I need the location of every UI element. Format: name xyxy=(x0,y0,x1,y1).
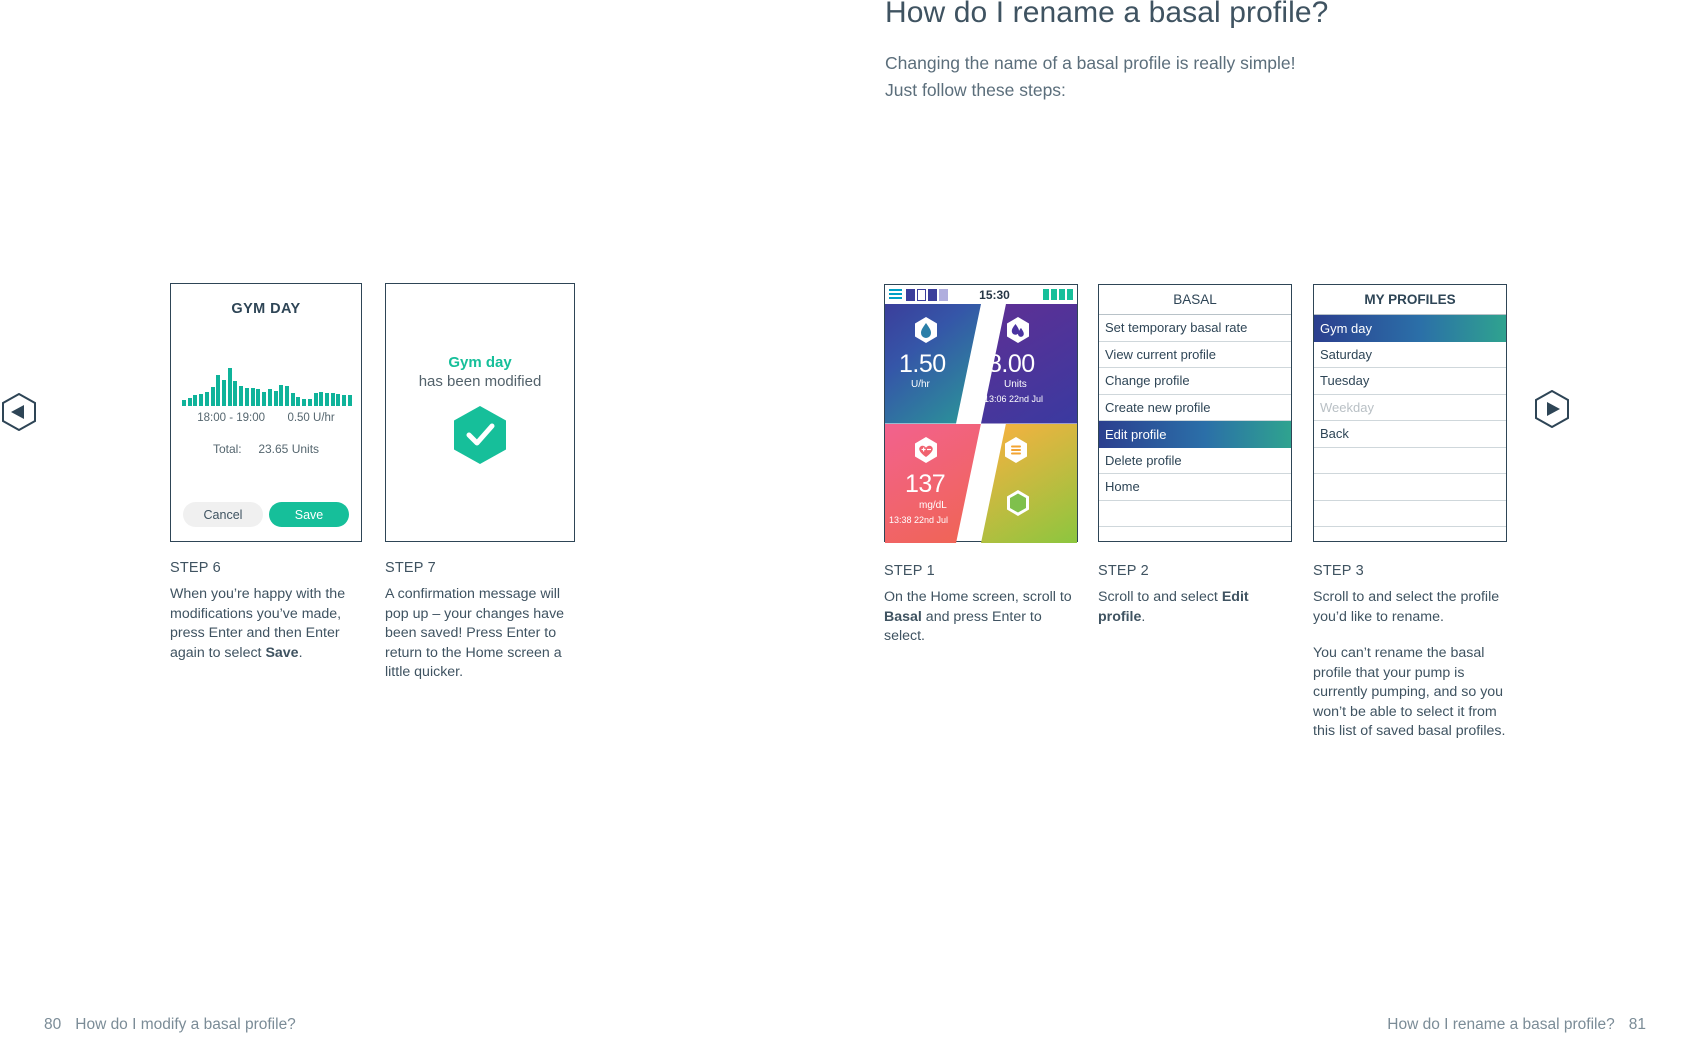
step1-text-a: On the Home screen, scroll to xyxy=(884,589,1072,605)
page-subtitle: Changing the name of a basal profile is … xyxy=(885,50,1296,104)
bg-time: 13:38 22nd Jul xyxy=(889,515,948,525)
cancel-button[interactable]: Cancel xyxy=(183,502,263,527)
chart-time-range: 18:00 - 19:00 xyxy=(197,412,265,424)
footer-title-left: How do I modify a basal profile? xyxy=(75,1016,296,1033)
page-number-left: 80 xyxy=(44,1016,61,1033)
bg-unit: mg/dL xyxy=(919,500,947,511)
profile-title: GYM DAY xyxy=(171,301,361,317)
menu-item-set-temporary-basal-rate[interactable]: Set temporary basal rate xyxy=(1099,315,1291,342)
bolus-value: 8.00 xyxy=(988,350,1035,379)
bg-value: 137 xyxy=(905,470,945,499)
chart-bar xyxy=(296,397,300,407)
chart-bar xyxy=(274,391,278,406)
caption-step1: STEP 1 On the Home screen, scroll to Bas… xyxy=(884,563,1079,647)
caption-step6: STEP 6 When you’re happy with the modifi… xyxy=(170,560,350,663)
profile-item-empty-row xyxy=(1314,474,1506,501)
home-tiles: 1.50 U/hr 8.00 Units 13:06 22nd Jul xyxy=(885,304,1077,543)
device-screen-step7: Gym day has been modified xyxy=(385,283,575,542)
chart-bar xyxy=(348,395,352,406)
chart-bar xyxy=(308,399,312,406)
basal-unit: U/hr xyxy=(911,379,930,390)
profile-item-gym-day[interactable]: Gym day xyxy=(1314,315,1506,342)
step-body: When you’re happy with the modifications… xyxy=(170,585,350,663)
step-label: STEP 6 xyxy=(170,560,350,576)
chart-bar xyxy=(222,380,226,406)
menu-item-view-current-profile[interactable]: View current profile xyxy=(1099,342,1291,369)
step-label: STEP 7 xyxy=(385,560,575,576)
pump-status-bar: 15:30 xyxy=(885,285,1077,304)
chart-bar xyxy=(279,385,283,406)
heart-plus-minus-hexagon-icon xyxy=(913,436,939,464)
step-body: On the Home screen, scroll to Basal and … xyxy=(884,588,1079,647)
step1-text-bold: Basal xyxy=(884,609,922,625)
bolus-time: 13:06 22nd Jul xyxy=(984,394,1043,404)
signal-lines-icon xyxy=(889,289,902,301)
profile-item-tuesday[interactable]: Tuesday xyxy=(1314,368,1506,395)
profile-item-saturday[interactable]: Saturday xyxy=(1314,342,1506,369)
chart-bar xyxy=(342,395,346,406)
basal-bar-chart xyxy=(182,368,352,406)
step-label: STEP 3 xyxy=(1313,563,1509,579)
menu-hexagon-icon xyxy=(1003,436,1029,464)
total-label: Total: xyxy=(213,442,242,456)
chart-bar xyxy=(285,386,289,406)
confirmation-message: has been modified xyxy=(386,373,574,390)
step-label: STEP 2 xyxy=(1098,563,1278,579)
chart-bar xyxy=(336,394,340,406)
bolus-unit: Units xyxy=(1004,379,1027,390)
chart-bar xyxy=(211,387,215,406)
step7-text: A confirmation message will pop up – you… xyxy=(385,585,575,683)
menu-title: BASAL xyxy=(1099,285,1291,315)
droplet-hexagon-icon xyxy=(913,316,939,344)
chart-bar xyxy=(245,388,249,406)
manual-spread: How do I rename a basal profile? Changin… xyxy=(0,0,1690,1058)
footer-title-right: How do I rename a basal profile? xyxy=(1387,1016,1614,1033)
blank-hexagon-icon xyxy=(1005,489,1031,517)
step2-text-c: . xyxy=(1141,609,1145,625)
step-label: STEP 1 xyxy=(884,563,1079,579)
chart-bar xyxy=(188,398,192,406)
step-body: A confirmation message will pop up – you… xyxy=(385,585,575,683)
tile-menu[interactable] xyxy=(981,424,1077,544)
chart-bar xyxy=(268,389,272,406)
chart-bar xyxy=(199,394,203,406)
chart-bar xyxy=(331,393,335,406)
step6-text-bold: Save xyxy=(265,645,298,661)
step6-text-a: When you’re happy with the modifications… xyxy=(170,586,345,661)
device-screen-step3-profiles-menu: MY PROFILES Gym daySaturdayTuesdayWeekda… xyxy=(1313,284,1507,542)
menu-item-change-profile[interactable]: Change profile xyxy=(1099,368,1291,395)
chart-bar xyxy=(216,375,220,406)
basal-value: 1.50 xyxy=(899,350,946,379)
footer-right: How do I rename a basal profile?81 xyxy=(1387,1016,1646,1034)
profile-item-empty-row xyxy=(1314,448,1506,475)
chart-bar xyxy=(325,393,329,406)
double-droplet-hexagon-icon xyxy=(1005,316,1031,344)
step-body: Scroll to and select Edit profile. xyxy=(1098,588,1278,627)
menu-title: MY PROFILES xyxy=(1314,285,1506,315)
chart-bar xyxy=(302,399,306,406)
profile-item-weekday[interactable]: Weekday xyxy=(1314,395,1506,422)
chart-rate: 0.50 U/hr xyxy=(287,412,334,424)
menu-list-basal: Set temporary basal rateView current pro… xyxy=(1099,315,1291,527)
device-screen-step1-home: 15:30 1.50 U/hr xyxy=(884,284,1078,542)
chart-bar xyxy=(233,381,237,406)
menu-item-delete-profile[interactable]: Delete profile xyxy=(1099,448,1291,475)
caption-step7: STEP 7 A confirmation message will pop u… xyxy=(385,560,575,683)
profile-item-empty-row xyxy=(1314,501,1506,528)
status-time: 15:30 xyxy=(979,288,1010,302)
chart-bar xyxy=(256,389,260,406)
device-screen-step2-basal-menu: BASAL Set temporary basal rateView curre… xyxy=(1098,284,1292,542)
chart-bar xyxy=(251,388,255,406)
chart-bar xyxy=(182,400,186,406)
caption-step3: STEP 3 Scroll to and select the profile … xyxy=(1313,563,1509,742)
chart-legend: 18:00 - 19:00 0.50 U/hr xyxy=(171,412,361,424)
chart-bar xyxy=(262,392,266,406)
subtitle-line-2: Just follow these steps: xyxy=(885,77,1296,104)
chart-total: Total: 23.65 Units xyxy=(171,442,361,456)
action-buttons: Cancel Save xyxy=(183,502,349,527)
step6-text-c: . xyxy=(299,645,303,661)
save-button[interactable]: Save xyxy=(269,502,349,527)
chart-bar xyxy=(228,368,232,406)
menu-item-edit-profile[interactable]: Edit profile xyxy=(1099,421,1291,448)
chart-bar xyxy=(314,393,318,406)
chart-bar xyxy=(291,393,295,406)
caption-step2: STEP 2 Scroll to and select Edit profile… xyxy=(1098,563,1278,627)
left-arrow-hexagon-icon[interactable] xyxy=(2,393,36,431)
check-hexagon-icon xyxy=(451,404,509,466)
confirmation-profile-name: Gym day xyxy=(386,354,574,371)
chart-bar xyxy=(193,395,197,406)
chart-bar xyxy=(319,392,323,406)
total-value: 23.65 Units xyxy=(258,442,319,456)
chart-bar xyxy=(239,386,243,406)
step2-text-a: Scroll to and select xyxy=(1098,589,1222,605)
page-title: How do I rename a basal profile? xyxy=(885,0,1328,30)
right-arrow-hexagon-icon[interactable] xyxy=(1535,390,1569,428)
profile-item-back[interactable]: Back xyxy=(1314,421,1506,448)
footer-left: 80How do I modify a basal profile? xyxy=(44,1016,296,1034)
step-body: Scroll to and select the profile you’d l… xyxy=(1313,588,1509,742)
menu-item-home[interactable]: Home xyxy=(1099,474,1291,501)
page-number-right: 81 xyxy=(1629,1016,1646,1033)
step3-text-1: Scroll to and select the profile you’d l… xyxy=(1313,588,1509,627)
battery-indicator-icon xyxy=(1043,289,1073,300)
menu-item-empty-row xyxy=(1099,501,1291,528)
device-screen-step6: GYM DAY 18:00 - 19:00 0.50 U/hr Total: 2… xyxy=(170,283,362,542)
step3-text-2: You can’t rename the basal profile that … xyxy=(1313,644,1509,742)
subtitle-line-1: Changing the name of a basal profile is … xyxy=(885,50,1296,77)
reservoir-indicator-icon xyxy=(906,289,948,301)
chart-bar xyxy=(205,392,209,406)
menu-item-create-new-profile[interactable]: Create new profile xyxy=(1099,395,1291,422)
menu-list-profiles: Gym daySaturdayTuesdayWeekdayBack xyxy=(1314,315,1506,527)
